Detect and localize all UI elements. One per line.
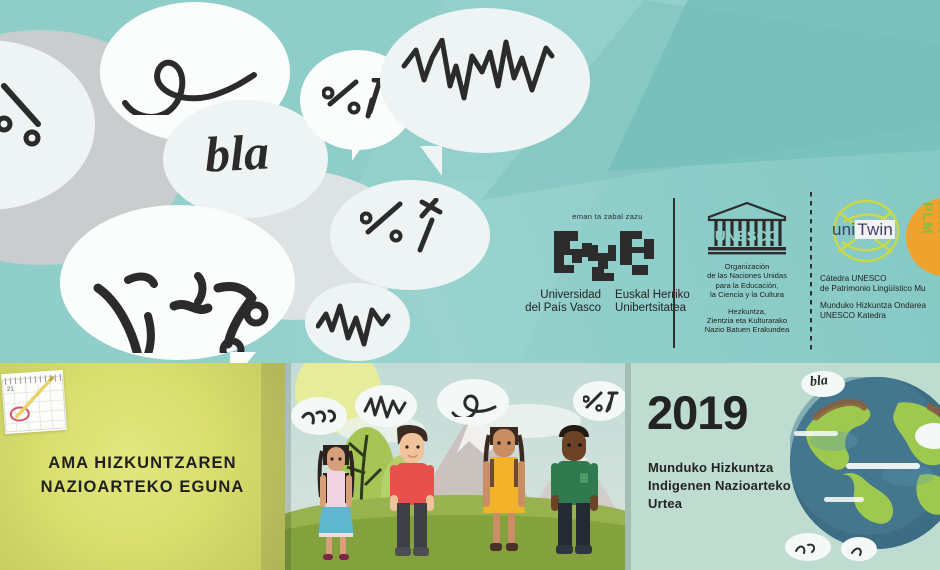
- ehu-emblem-glyph: [548, 225, 668, 283]
- speech-bubble-tail-zigzag: [420, 146, 442, 176]
- chair-es-2: de Patrimonio Lingüístico Mu: [820, 284, 926, 293]
- chair-eu-1: Munduko Hizkuntza Ondarea: [820, 301, 926, 310]
- glyph-percent-slash-left: [0, 80, 80, 150]
- glyph-percent-slash-right: [360, 198, 470, 258]
- glyph-mini-2: [849, 544, 869, 556]
- ehu-name-es: Universidad del País Vasco: [525, 289, 601, 315]
- bottom-row: 21 AMA HIZKUNTZAREN NAZIOARTEKO EGUNA: [0, 363, 940, 570]
- ehu-es-line1: Universidad: [540, 289, 601, 301]
- glyph-script-scribble: [92, 258, 307, 353]
- mho-badge-text: MHO PLM: [920, 202, 940, 266]
- bubble-word-bla: bla: [204, 122, 271, 183]
- unitwin-wordmark: uniTwin: [832, 220, 895, 240]
- speech-bubble-tail-script: [230, 352, 256, 363]
- unitwin-word-twin: Twin: [855, 220, 895, 239]
- unesco-chair-caption: Cátedra UNESCO de Patrimonio Lingüístico…: [820, 274, 940, 321]
- child-girl-yellow: [477, 421, 531, 563]
- glyph-zigzag-waveform: [400, 38, 560, 113]
- unitwin-word-uni: uni: [832, 220, 855, 239]
- unesco-es-4: la Ciencia y la Cultura: [710, 290, 784, 299]
- chair-es-1: Cátedra UNESCO: [820, 274, 886, 283]
- child-boy-green-figure: [547, 421, 603, 563]
- unesco-temple-icon: UNESCO: [704, 200, 790, 256]
- divider-dotted: [810, 192, 812, 352]
- ehu-name-eu: Euskal Herriko Unibertsitatea: [615, 289, 690, 315]
- panel-indigenous-languages-year: bla 2019 Munduko Hizkuntza Indigenen Naz…: [625, 363, 940, 570]
- glyph-child3-loop: [451, 391, 499, 417]
- unesco-eu-1: Hezkuntza,: [728, 307, 766, 316]
- calendar-day-number: 21: [7, 386, 15, 392]
- green-subtitle-line1: Munduko Hizkuntza: [648, 459, 848, 477]
- mini-bubble-bla-word: bla: [809, 373, 828, 391]
- unesco-eu-3: Nazio Batuen Erakundea: [705, 325, 789, 334]
- logo-unesco: UNESCO Organización de las Naciones Unid…: [688, 200, 806, 335]
- yellow-title-line2: NAZIOARTEKO EGUNA: [0, 475, 285, 499]
- ehu-eu-line2: Unibertsitatea: [615, 302, 686, 314]
- chair-eu-2: UNESCO Katedra: [820, 311, 886, 320]
- mother-language-day-title: AMA HIZKUNTZAREN NAZIOARTEKO EGUNA: [0, 451, 285, 499]
- unesco-wordmark: UNESCO: [715, 228, 780, 245]
- top-banner: bla: [0, 0, 940, 363]
- yellow-title-line1: AMA HIZKUNTZAREN: [0, 451, 285, 475]
- green-subtitle-line3: Urtea: [648, 495, 848, 513]
- glyph-small-waveform: [316, 300, 401, 350]
- year-heading: 2019: [647, 385, 748, 440]
- child-boy-red-figure: [385, 425, 439, 563]
- speech-bubble-tail-mid: [352, 135, 370, 161]
- panel-illustration-left-shadow: [285, 363, 291, 570]
- glyph-mini-1: [794, 541, 822, 555]
- logo-unitwin: uniTwin MHO PLM: [820, 196, 940, 266]
- glyph-child1: [301, 407, 341, 427]
- glyph-child4-percent: [583, 391, 623, 413]
- ehu-es-line2: del País Vasco: [525, 302, 601, 314]
- calendar-icon-glyph: 21: [1, 370, 67, 434]
- child-girl-yellow-figure: [477, 421, 531, 563]
- logo-strip: eman ta zabal zazu Universi: [470, 190, 940, 360]
- unesco-eu-2: Zientzia eta Kulturarako: [707, 316, 787, 325]
- panel-mother-language-day: 21 AMA HIZKUNTZAREN NAZIOARTEKO EGUNA: [0, 363, 285, 570]
- divider-solid: [673, 198, 675, 348]
- child-girl-braids-figure: [311, 441, 361, 563]
- green-subtitle: Munduko Hizkuntza Indigenen Nazioarteko …: [648, 459, 848, 513]
- panel-yellow-edge-shade: [261, 363, 285, 570]
- panel-green-left-shadow: [625, 363, 631, 570]
- calendar-icon: 21: [1, 370, 67, 434]
- unesco-es-1: Organización: [725, 262, 770, 271]
- child-girl-braids: [311, 441, 361, 563]
- child-boy-red: [385, 425, 439, 563]
- panel-children-illustration: [285, 363, 625, 570]
- poster-canvas: bla: [0, 0, 940, 570]
- green-subtitle-line2: Indigenen Nazioarteko: [648, 477, 848, 495]
- unesco-es-2: de las Naciones Unidas: [707, 271, 787, 280]
- glyph-child2-waveform: [363, 395, 411, 419]
- unesco-caption: Organización de las Naciones Unidas para…: [688, 262, 806, 335]
- child-boy-green: [547, 421, 603, 563]
- unesco-es-3: para la Educación,: [716, 281, 779, 290]
- ehu-eu-line1: Euskal Herriko: [615, 289, 690, 301]
- unesco-emblem: UNESCO: [688, 200, 806, 256]
